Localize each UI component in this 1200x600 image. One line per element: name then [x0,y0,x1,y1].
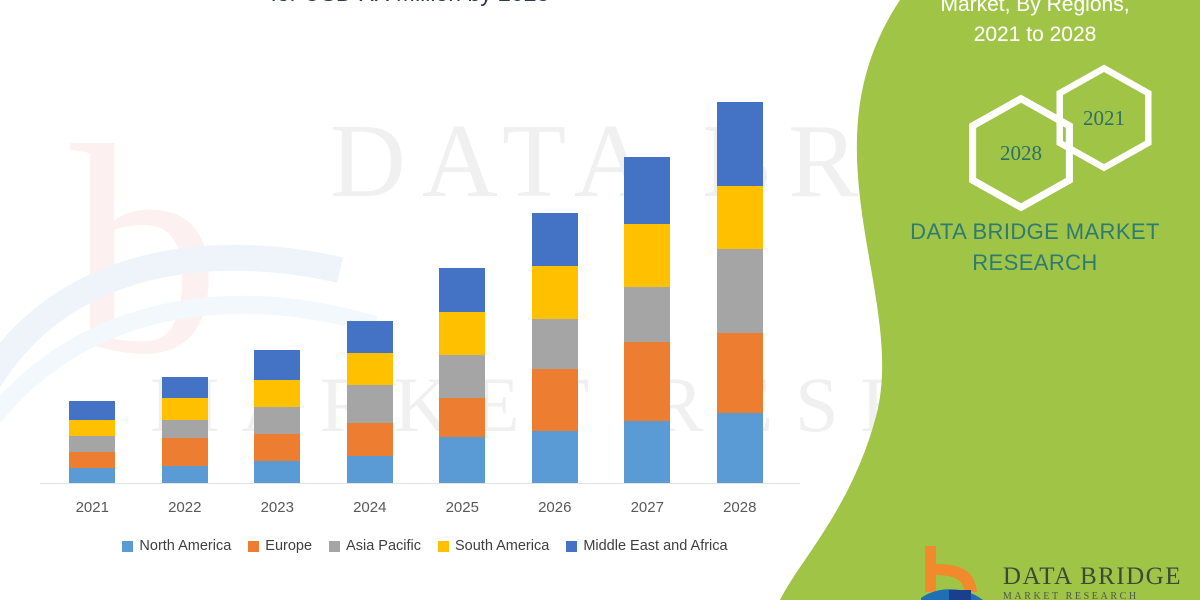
data-bridge-logo-text: DATA BRIDGE MARKET RESEARCH [1003,564,1182,600]
x-axis-labels: 20212022202320242025202620272028 [46,492,786,522]
x-axis-label-2023: 2023 [232,499,322,516]
bar-segment [254,461,300,483]
bar-segment [624,287,670,343]
bar-segment [624,342,670,421]
legend-item[interactable]: Asia Pacific [329,538,421,554]
bar-segment [717,186,763,249]
bar-segment [347,321,393,353]
legend-swatch-icon [248,541,259,552]
bar-segment [717,249,763,333]
stacked-bar [439,268,485,483]
logo-subtitle: MARKET RESEARCH [1003,590,1182,600]
bar-segment [69,436,115,452]
bar-segment [439,312,485,356]
bar-segment [347,423,393,456]
legend-label: South America [455,538,549,554]
bar-segment [624,421,670,483]
bar-column-2028 [695,90,785,483]
chart-title-line2: for USD XX Million by 2028 [60,0,760,8]
right-panel-title-line1: Market, By Regions, [880,0,1190,20]
right-panel-title: Market, By Regions, 2021 to 2028 [870,0,1200,50]
bar-segment [162,377,208,398]
bar-segment [69,468,115,483]
stacked-bar [162,377,208,483]
brand-text-line2: RESEARCH [870,247,1200,278]
legend-item[interactable]: North America [122,538,231,554]
bar-segment [254,434,300,461]
bar-segment [532,369,578,430]
legend-swatch-icon [329,541,340,552]
bar-segment [717,102,763,186]
legend-swatch-icon [566,541,577,552]
data-bridge-logo: DATA BRIDGE MARKET RESEARCH [919,542,1182,600]
data-bridge-logo-mark [919,542,989,600]
legend-item[interactable]: Europe [248,538,312,554]
bar-segment [532,213,578,265]
x-axis-label-2026: 2026 [510,499,600,516]
bar-segment [254,407,300,434]
stacked-bar [69,401,115,483]
bar-column-2026 [510,90,600,483]
stacked-bar [717,102,763,483]
bar-segment [347,385,393,423]
bar-segment [624,157,670,225]
bar-segment [254,350,300,381]
hex-badge-2021-label: 2021 [1050,64,1158,172]
bar-segment [69,452,115,467]
bar-segment [162,466,208,483]
brand-text-line1: DATA BRIDGE MARKET [870,216,1200,247]
bar-segment [439,398,485,437]
bar-segment [439,355,485,398]
right-panel-content: Market, By Regions, 2021 to 2028 2028 20… [870,0,1200,600]
bar-segment [439,437,485,483]
legend-item[interactable]: Middle East and Africa [566,538,727,554]
bar-column-2023 [232,90,322,483]
bar-segment [532,266,578,319]
bar-segment [162,420,208,439]
stacked-bar [624,157,670,483]
legend-swatch-icon [122,541,133,552]
bar-column-2021 [47,90,137,483]
bar-column-2027 [602,90,692,483]
hexagon-badges: 2028 2021 [870,68,1200,198]
x-axis-label-2027: 2027 [602,499,692,516]
chart-legend: North AmericaEuropeAsia PacificSouth Ame… [40,538,810,554]
x-axis-label-2024: 2024 [325,499,415,516]
bar-segment [69,420,115,436]
legend-label: North America [139,538,231,554]
bar-column-2024 [325,90,415,483]
bar-column-2022 [140,90,230,483]
x-axis-label-2021: 2021 [47,499,137,516]
brand-text: DATA BRIDGE MARKET RESEARCH [870,216,1200,278]
bar-segment [347,353,393,385]
legend-label: Asia Pacific [346,538,421,554]
right-panel-title-line2: 2021 to 2028 [880,20,1190,50]
bar-column-2025 [417,90,507,483]
x-axis-line [40,483,800,484]
x-axis-label-2022: 2022 [140,499,230,516]
legend-label: Europe [265,538,312,554]
bar-segment [254,380,300,406]
logo-name: DATA BRIDGE [1003,564,1182,590]
bar-segment [624,224,670,286]
chart-title: for USD XX Million by 2028 [60,0,760,8]
legend-label: Middle East and Africa [583,538,727,554]
bar-chart-plot-area [46,90,786,483]
x-axis-label-2028: 2028 [695,499,785,516]
bar-segment [439,268,485,312]
bar-segment [347,456,393,483]
bar-series-container [46,90,786,483]
bar-segment [717,413,763,483]
hex-badge-2021: 2021 [1050,64,1158,172]
bar-segment [532,319,578,369]
legend-item[interactable]: South America [438,538,549,554]
stacked-bar [532,213,578,483]
bar-segment [69,401,115,420]
legend-swatch-icon [438,541,449,552]
bar-segment [162,438,208,465]
bar-segment [532,431,578,483]
stacked-bar [347,321,393,483]
bar-segment [717,333,763,413]
x-axis-label-2025: 2025 [417,499,507,516]
stacked-bar [254,350,300,483]
bar-segment [162,398,208,420]
